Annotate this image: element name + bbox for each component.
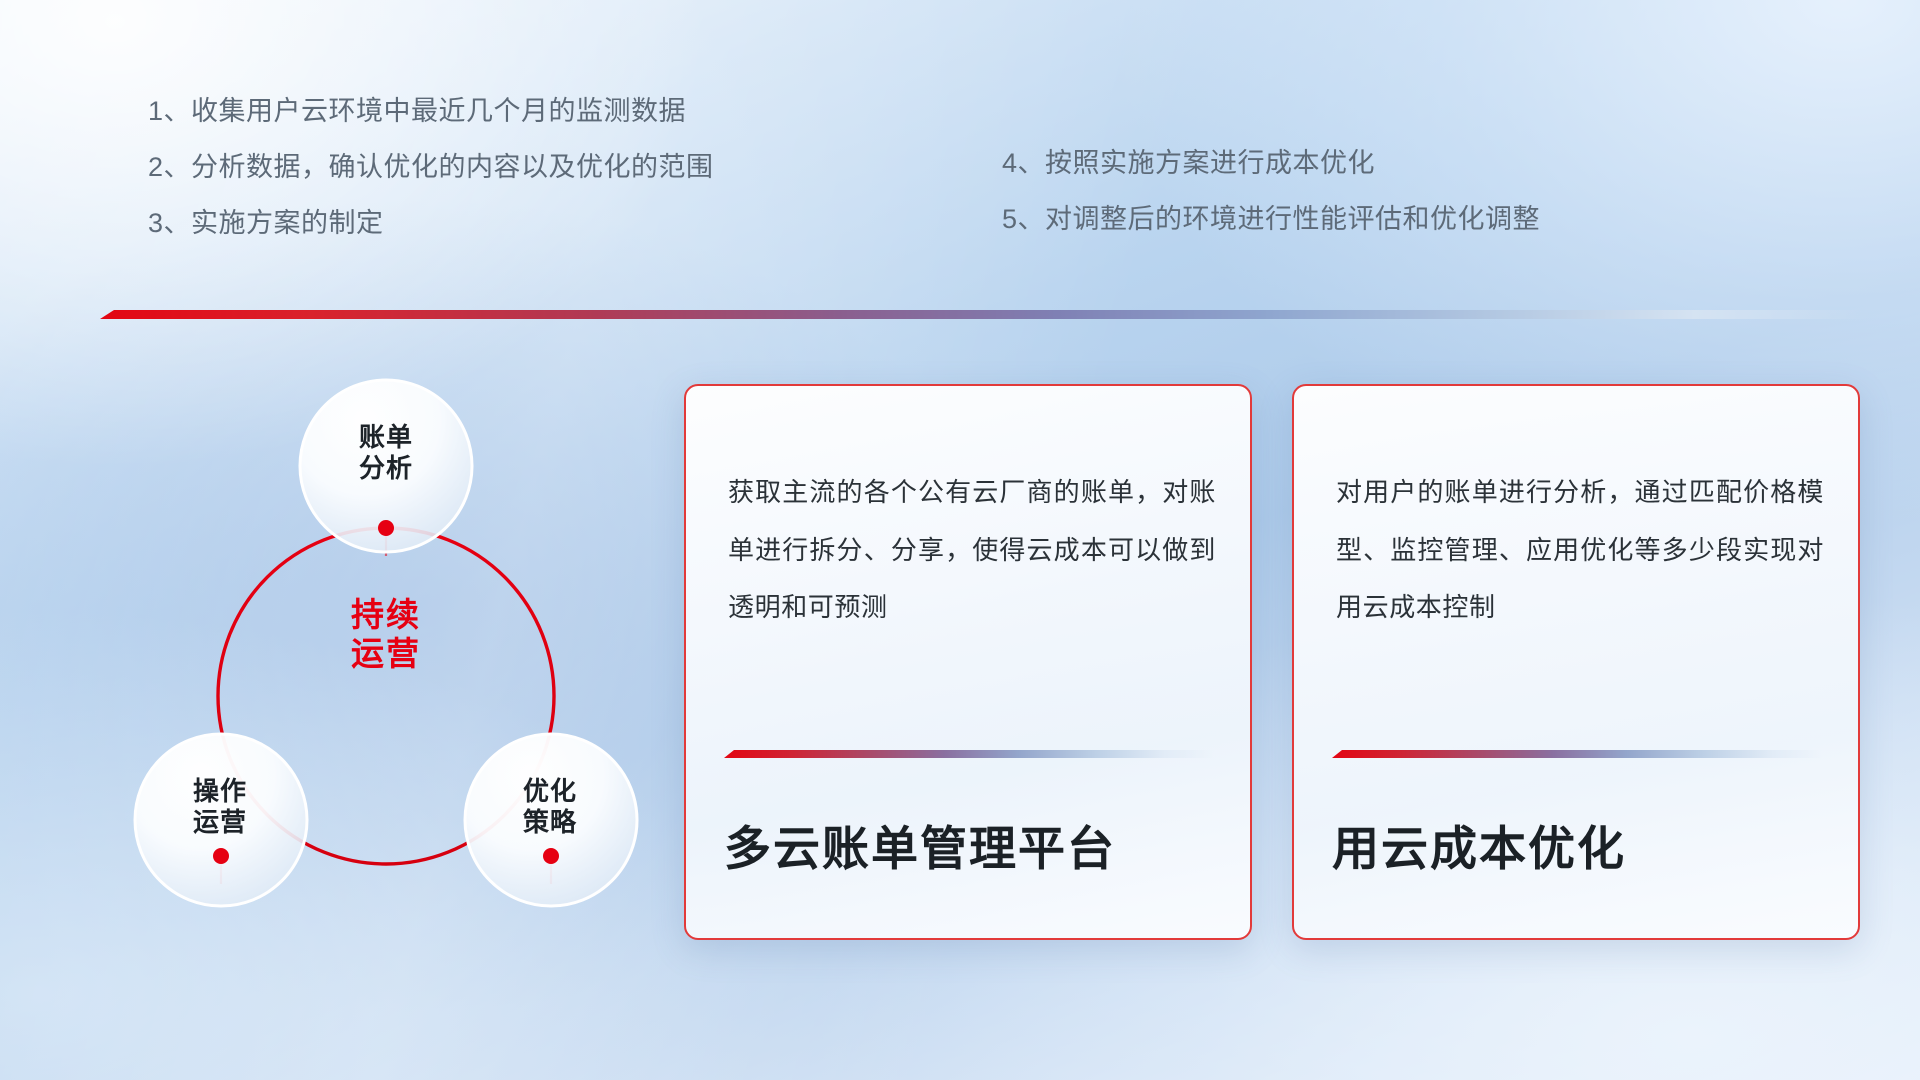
venn-diagram: 账单 分析 操作 运营 优化 策略 持续 运营 <box>96 356 636 936</box>
venn-node-dot-right <box>543 848 559 864</box>
step-item-4: 4、按照实施方案进行成本优化 <box>1002 150 1540 177</box>
venn-label-operations: 操作 运营 <box>140 776 300 837</box>
step-item-5: 5、对调整后的环境进行性能评估和优化调整 <box>1002 206 1540 233</box>
card-title: 多云账单管理平台 <box>724 810 1220 879</box>
section-divider-bar <box>100 310 1872 319</box>
steps-right-column: 4、按照实施方案进行成本优化 5、对调整后的环境进行性能评估和优化调整 <box>1002 150 1540 262</box>
venn-label-optimization: 优化 策略 <box>470 776 630 837</box>
card-multicloud-billing[interactable]: 获取主流的各个公有云厂商的账单，对账单进行拆分、分享，使得云成本可以做到透明和可… <box>684 384 1252 940</box>
card-cloud-cost-optimization[interactable]: 对用户的账单进行分析，通过匹配价格模型、监控管理、应用优化等多少段实现对用云成本… <box>1292 384 1860 940</box>
section-divider <box>100 310 1872 319</box>
venn-label-bill-analysis: 账单 分析 <box>306 422 466 483</box>
step-item-3: 3、实施方案的制定 <box>148 210 714 237</box>
card-body-text: 对用户的账单进行分析，通过匹配价格模型、监控管理、应用优化等多少段实现对用云成本… <box>1336 464 1824 637</box>
slide-canvas: 1、收集用户云环境中最近几个月的监测数据 2、分析数据，确认优化的内容以及优化的… <box>0 0 1920 1080</box>
card-accent-rule <box>1332 750 1822 758</box>
step-item-2: 2、分析数据，确认优化的内容以及优化的范围 <box>148 154 714 181</box>
steps-left-column: 1、收集用户云环境中最近几个月的监测数据 2、分析数据，确认优化的内容以及优化的… <box>148 98 714 266</box>
venn-node-dot-top <box>378 520 394 536</box>
card-accent-rule <box>724 750 1214 758</box>
venn-node-dot-left <box>213 848 229 864</box>
step-item-1: 1、收集用户云环境中最近几个月的监测数据 <box>148 98 714 125</box>
card-body-text: 获取主流的各个公有云厂商的账单，对账单进行拆分、分享，使得云成本可以做到透明和可… <box>728 464 1216 637</box>
venn-label-center: 持续 运营 <box>304 596 468 674</box>
card-title: 用云成本优化 <box>1332 810 1828 879</box>
